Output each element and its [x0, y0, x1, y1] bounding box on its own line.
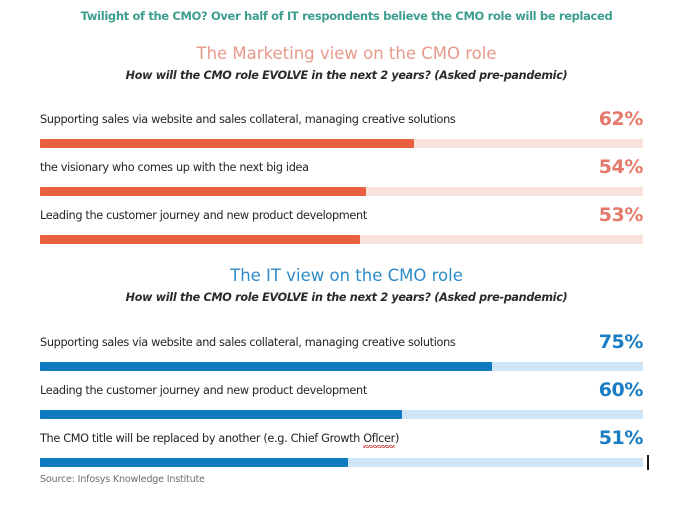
- marketing-section-subtitle: How will the CMO role EVOLVE in the next…: [0, 69, 693, 82]
- bar-row-label: Leading the customer journey and new pro…: [40, 384, 367, 397]
- bar-track: [40, 362, 643, 371]
- it-section-subtitle: How will the CMO role EVOLVE in the next…: [0, 291, 693, 304]
- bar-row-label-part2: ): [395, 432, 399, 445]
- bar-row-label: The CMO title will be replaced by anothe…: [40, 432, 399, 445]
- bar-row-value: 60%: [599, 379, 643, 401]
- bar-row-label: Supporting sales via website and sales c…: [40, 336, 455, 349]
- bar-row-label: Supporting sales via website and sales c…: [40, 113, 455, 126]
- bar-row-value: 53%: [599, 204, 643, 226]
- bar-track: [40, 139, 643, 148]
- bar-row-header: Supporting sales via website and sales c…: [40, 113, 643, 134]
- bar-row-label: Leading the customer journey and new pro…: [40, 209, 367, 222]
- bar-row: Leading the customer journey and new pro…: [40, 384, 643, 432]
- bar-row-label: the visionary who comes up with the next…: [40, 161, 309, 174]
- bar-fill: [40, 458, 348, 467]
- bar-row-header: Leading the customer journey and new pro…: [40, 209, 643, 230]
- marketing-section-title: The Marketing view on the CMO role: [0, 44, 693, 63]
- bar-row: Leading the customer journey and new pro…: [40, 209, 643, 257]
- bar-fill: [40, 410, 402, 419]
- bar-row: The CMO title will be replaced by anothe…: [40, 432, 643, 480]
- misspelled-word: Oflcer: [363, 432, 395, 445]
- bar-row-header: the visionary who comes up with the next…: [40, 161, 643, 182]
- bar-track: [40, 187, 643, 196]
- text-cursor-caret: [647, 455, 649, 470]
- bar-fill: [40, 187, 366, 196]
- it-bar-list: Supporting sales via website and sales c…: [40, 336, 643, 480]
- source-attribution: Source: Infosys Knowledge Institute: [40, 474, 205, 485]
- bar-row-value: 75%: [599, 331, 643, 353]
- bar-row-header: The CMO title will be replaced by anothe…: [40, 432, 643, 453]
- marketing-section: The Marketing view on the CMO role How w…: [0, 44, 693, 82]
- page-headline: Twilight of the CMO? Over half of IT res…: [0, 9, 693, 23]
- it-section: The IT view on the CMO role How will the…: [0, 266, 693, 304]
- bar-fill: [40, 139, 414, 148]
- bar-track: [40, 410, 643, 419]
- bar-row-value: 62%: [599, 108, 643, 130]
- bar-row: the visionary who comes up with the next…: [40, 161, 643, 209]
- bar-fill: [40, 362, 492, 371]
- bar-track: [40, 235, 643, 244]
- bar-row-label-part1: The CMO title will be replaced by anothe…: [40, 432, 363, 445]
- bar-row-header: Leading the customer journey and new pro…: [40, 384, 643, 405]
- it-section-title: The IT view on the CMO role: [0, 266, 693, 285]
- bar-row: Supporting sales via website and sales c…: [40, 113, 643, 161]
- marketing-bar-list: Supporting sales via website and sales c…: [40, 113, 643, 257]
- bar-row-value: 54%: [599, 156, 643, 178]
- bar-row-header: Supporting sales via website and sales c…: [40, 336, 643, 357]
- bar-fill: [40, 235, 360, 244]
- bar-track: [40, 458, 643, 467]
- infographic-page: Twilight of the CMO? Over half of IT res…: [0, 0, 693, 508]
- bar-row: Supporting sales via website and sales c…: [40, 336, 643, 384]
- bar-row-value: 51%: [599, 427, 643, 449]
